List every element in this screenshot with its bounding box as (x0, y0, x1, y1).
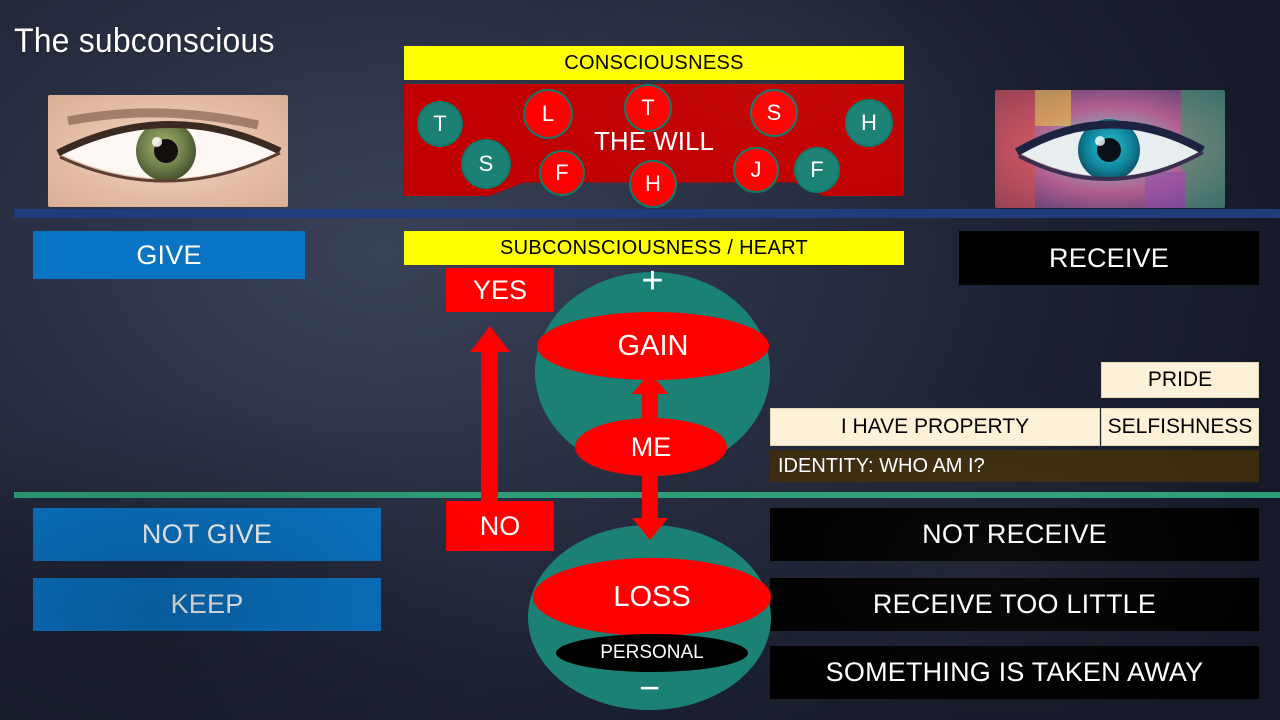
label-yes: YES (446, 268, 554, 312)
eye-photo-left (48, 95, 288, 207)
label-not-give: NOT GIVE (33, 508, 381, 561)
minus-sign: − (528, 670, 771, 706)
page-title: The subconscious (14, 22, 275, 61)
me-to-loss-arrow-head (632, 518, 668, 540)
label-something-is-taken-away: SOMETHING IS TAKEN AWAY (770, 646, 1259, 699)
will-letter-s2: S (750, 89, 798, 137)
will-letter-t1: T (417, 101, 463, 147)
will-letter-t2: T (624, 84, 672, 132)
label-receive: RECEIVE (959, 231, 1259, 285)
slide-canvas: The subconscious (0, 0, 1280, 720)
will-letter-j: J (733, 147, 779, 193)
label-selfishness: SELFISHNESS (1101, 408, 1259, 446)
label-give: GIVE (33, 231, 305, 279)
consciousness-bar: CONSCIOUSNESS (404, 46, 904, 80)
label-me: ME (575, 418, 727, 476)
label-loss: LOSS (533, 558, 771, 636)
will-letter-h2: H (845, 99, 893, 147)
no-to-yes-arrow-head (470, 326, 510, 352)
conscious-divider-line (14, 209, 1280, 218)
label-keep: KEEP (33, 578, 381, 631)
plus-sign: + (535, 262, 770, 300)
label-i-have-property: I HAVE PROPERTY (770, 408, 1100, 446)
will-letter-f2: F (794, 147, 840, 193)
will-letter-s1: S (461, 139, 511, 189)
label-no: NO (446, 501, 554, 551)
will-letter-l: L (523, 89, 573, 139)
me-to-gain-arrow-head (632, 372, 668, 394)
label-receive-too-little: RECEIVE TOO LITTLE (770, 578, 1259, 631)
eye-artwork-right-graphic (995, 90, 1225, 208)
no-to-yes-arrow-shaft (481, 345, 498, 525)
label-personal: PERSONAL (556, 634, 748, 672)
label-gain: GAIN (537, 312, 769, 380)
label-not-receive: NOT RECEIVE (770, 508, 1259, 561)
eye-photo-left-graphic (48, 95, 288, 207)
will-letter-f1: F (539, 150, 585, 196)
me-to-loss-arrow-shaft (642, 470, 658, 522)
eye-artwork-right (995, 90, 1225, 208)
label-identity-who-am-i: IDENTITY: WHO AM I? (770, 450, 1259, 482)
label-pride: PRIDE (1101, 362, 1259, 398)
will-letter-h1: H (629, 160, 677, 208)
